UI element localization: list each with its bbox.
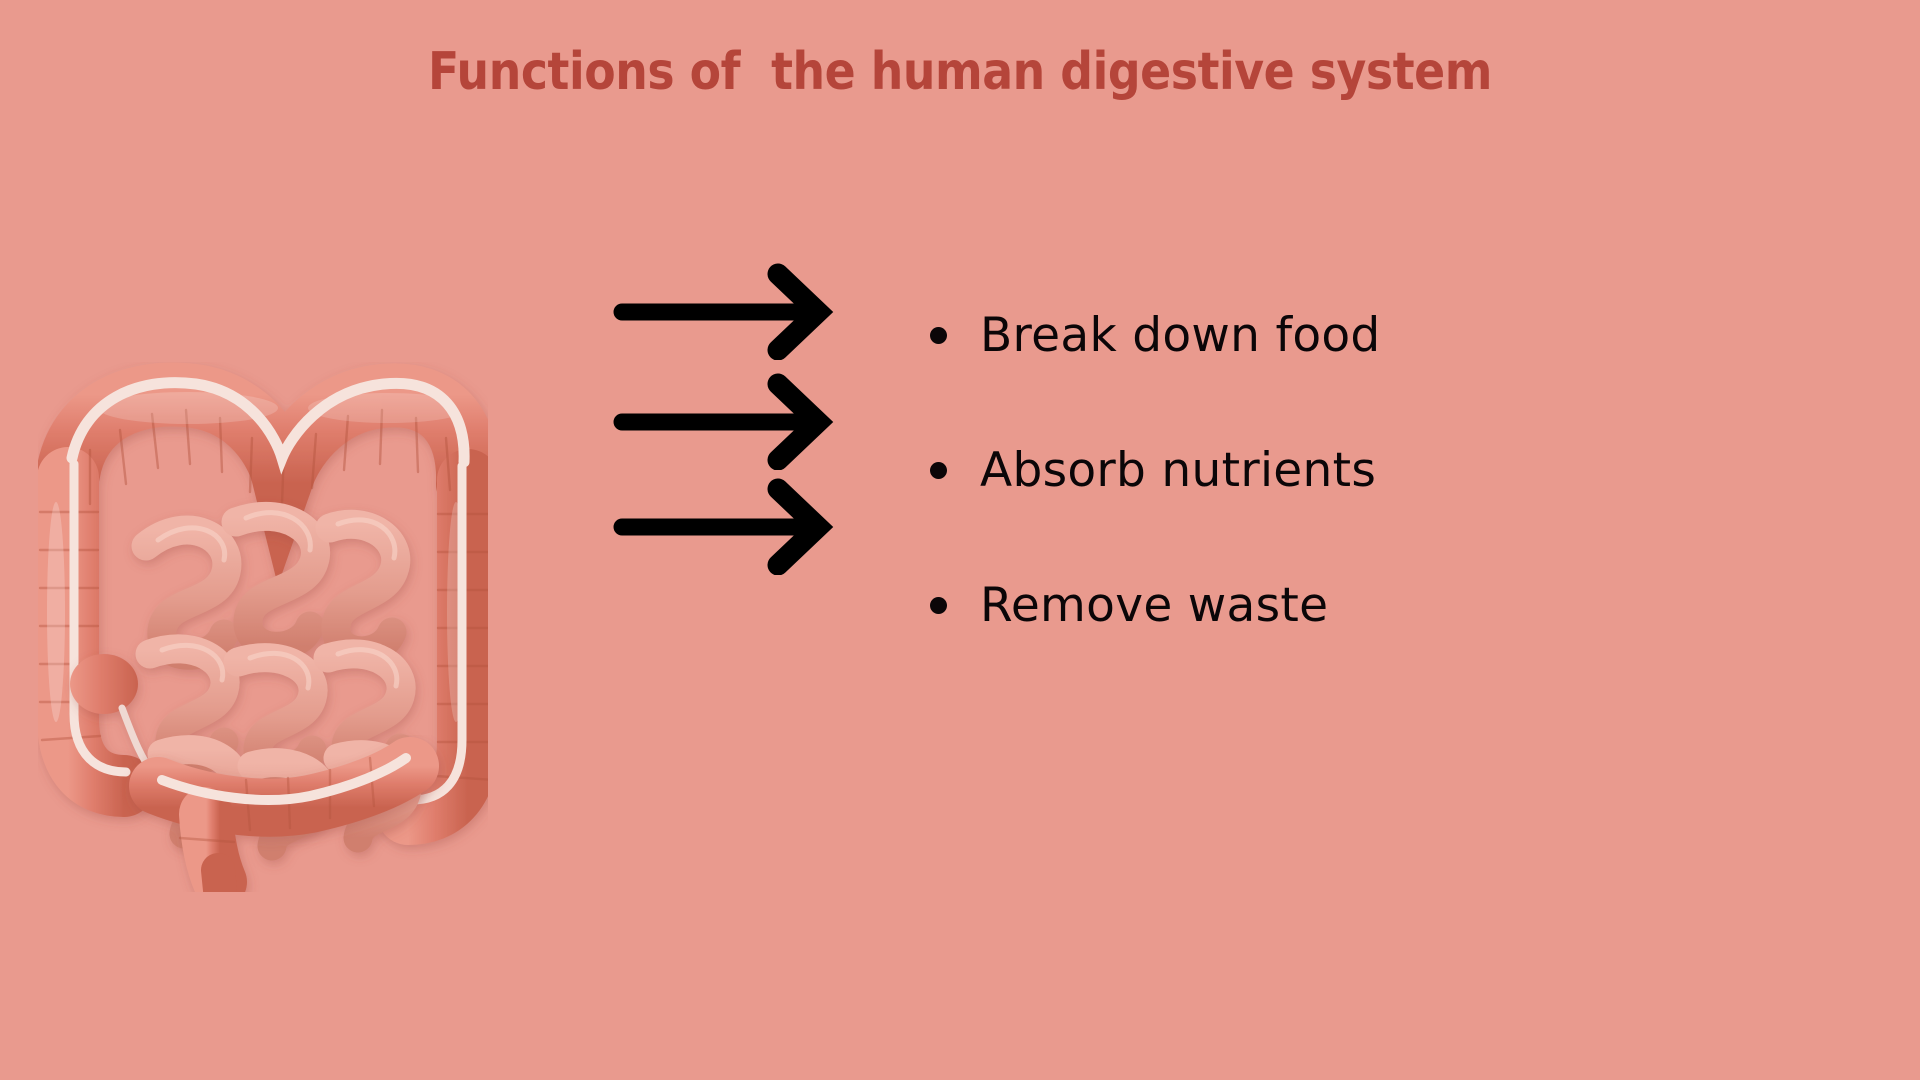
bullet-marker-icon [930,597,947,614]
list-item-label: Absorb nutrients [980,443,1376,498]
bullet-marker-icon [930,327,947,344]
list-item-label: Remove waste [980,578,1328,633]
list-item: Break down food [930,268,1830,403]
page-title: Functions of the human digestive system [115,44,1805,101]
bullet-marker-icon [930,462,947,479]
arrow-right-1 [610,260,850,360]
list-item: Remove waste [930,538,1830,673]
functions-bullet-list: Break down food Absorb nutrients Remove … [930,268,1830,673]
human-intestines-3d-illustration [38,362,488,892]
list-item: Absorb nutrients [930,403,1830,538]
arrow-right-2 [610,370,850,470]
slide-canvas: Functions of the human digestive system [0,0,1920,1080]
arrow-right-3 [610,475,850,575]
list-item-label: Break down food [980,308,1381,363]
